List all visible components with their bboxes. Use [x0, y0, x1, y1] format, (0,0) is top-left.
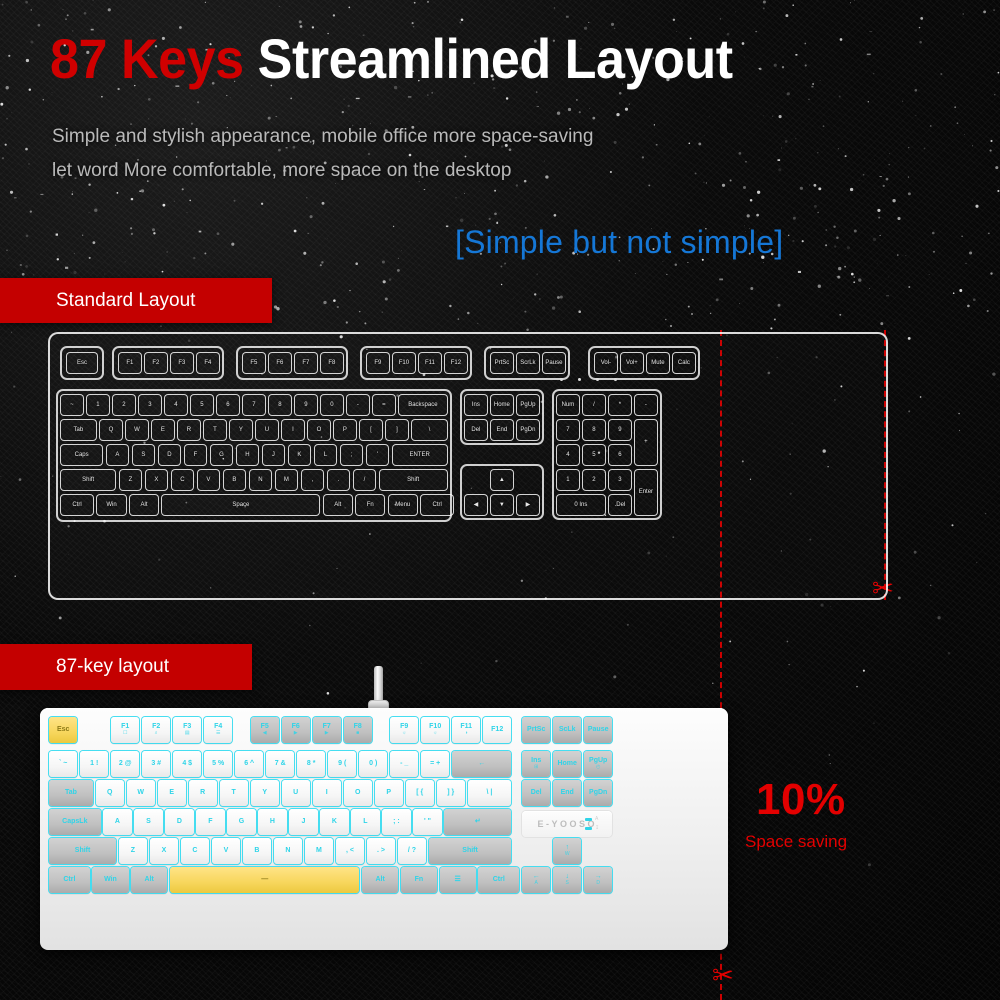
key-b[interactable]: B [223, 469, 247, 491]
key-label: L [363, 818, 367, 826]
key-1[interactable]: 1 [86, 394, 110, 416]
key-label: 5 % [212, 760, 224, 768]
banner-87-label: 87-key layout [56, 656, 169, 678]
key-2[interactable]: 2 @ [111, 751, 139, 777]
key-backspace[interactable]: Backspace [398, 394, 448, 416]
key-label: ` ~ [59, 760, 67, 768]
key-9[interactable]: 9 [294, 394, 318, 416]
key-c[interactable]: C [171, 469, 195, 491]
key-[interactable]: \ | [468, 780, 512, 806]
key-z[interactable]: Z [119, 838, 147, 864]
key-[interactable]: ☰ [440, 867, 476, 893]
key-label: I [326, 789, 328, 797]
key-label: A [115, 818, 120, 826]
key-e[interactable]: E [158, 780, 186, 806]
key-label: Home [557, 760, 576, 768]
key-f8[interactable]: F8■ [344, 717, 372, 743]
key-label: Tab [65, 789, 77, 797]
key-label: Esc [57, 726, 69, 734]
key-[interactable]: ↵ [444, 809, 511, 835]
indicator-label: A [595, 816, 598, 822]
key-1[interactable]: 1 [556, 469, 580, 491]
key-label: ↵ [475, 818, 481, 826]
key-u[interactable]: U [282, 780, 310, 806]
key-r[interactable]: R [177, 419, 201, 441]
key-label: E [169, 789, 174, 797]
key-label: Pause [588, 726, 609, 734]
key-f12[interactable]: F12 [444, 352, 468, 374]
key-[interactable]: - _ [390, 751, 418, 777]
key-sublabel: S [566, 881, 569, 887]
key-shift[interactable]: Shift [60, 469, 116, 491]
key-alt[interactable]: Alt [362, 867, 398, 893]
key-[interactable]: ~ [60, 394, 84, 416]
key-[interactable]: ] } [437, 780, 465, 806]
indicator-led [560, 378, 563, 381]
key-scrlk[interactable]: ScrLk [516, 352, 540, 374]
key-pause[interactable]: Pause [584, 717, 612, 743]
key-label: / ? [408, 847, 416, 855]
key-a[interactable]: A [103, 809, 131, 835]
key-n[interactable]: N [249, 469, 273, 491]
key-ctrl[interactable]: Ctrl [49, 867, 90, 893]
key-label: End [561, 789, 574, 797]
key-[interactable]: ▲ [490, 469, 514, 491]
key-7[interactable]: 7 & [266, 751, 294, 777]
key-1[interactable]: 1 ! [80, 751, 108, 777]
key-pgdn[interactable]: PgDn [516, 419, 540, 441]
key-label: M [316, 847, 322, 855]
key-label: ] } [447, 789, 454, 797]
key-j[interactable]: J [262, 444, 286, 466]
key-[interactable]: / ? [398, 838, 426, 864]
banner-standard-layout: Standard Layout [0, 278, 272, 323]
key-ctrl[interactable]: Ctrl [60, 494, 94, 516]
key-label: , < [346, 847, 354, 855]
key-esc[interactable]: Esc [49, 717, 77, 743]
key-capslk[interactable]: CapsLk [49, 809, 101, 835]
key-7[interactable]: 7 [242, 394, 266, 416]
key-o[interactable]: O [307, 419, 331, 441]
key-prtsc[interactable]: PrtSc [490, 352, 514, 374]
key-label: Fn [415, 876, 424, 884]
key-sublabel: ☼ [402, 731, 407, 737]
key-l[interactable]: L [351, 809, 379, 835]
key-[interactable]: \ [411, 419, 448, 441]
key-f3[interactable]: F3 [170, 352, 194, 374]
key-[interactable]: ' [366, 444, 390, 466]
key-[interactable]: ← [452, 751, 511, 777]
key-label: X [162, 847, 167, 855]
key-label: [ { [416, 789, 423, 797]
key-f8[interactable]: F8 [320, 352, 344, 374]
key-pgup[interactable]: PgUp◴ [584, 751, 612, 777]
key-label: Ctrl [63, 876, 75, 884]
key-sublabel: ▶ [325, 731, 329, 737]
key-[interactable]: ; [340, 444, 364, 466]
key-6[interactable]: 6 [608, 444, 632, 466]
key-h[interactable]: H [236, 444, 260, 466]
page-title-main: Streamlined Layout [258, 27, 733, 90]
key-[interactable]: ▶ [516, 494, 540, 516]
key-2[interactable]: 2 [112, 394, 136, 416]
key-label: - _ [400, 760, 408, 768]
key-f2[interactable]: F2 [144, 352, 168, 374]
key-label: N [285, 847, 290, 855]
key-v[interactable]: V [212, 838, 240, 864]
space-saving-caption: Space saving [745, 832, 847, 852]
key-label: 9 ( [338, 760, 346, 768]
key-menu[interactable]: Menu [388, 494, 418, 516]
key-[interactable]: - [346, 394, 370, 416]
key-m[interactable]: M [305, 838, 333, 864]
indicator-led [585, 827, 592, 830]
indicator-label: ↧ [595, 825, 599, 831]
key-x[interactable]: X [150, 838, 178, 864]
key-label: ' " [424, 818, 431, 826]
key-esc[interactable]: Esc [66, 352, 98, 374]
key-s[interactable]: S [134, 809, 162, 835]
key-y[interactable]: Y [229, 419, 253, 441]
key-p[interactable]: P [375, 780, 403, 806]
key-[interactable]: + [634, 419, 658, 466]
key-f3[interactable]: F3▤ [173, 717, 201, 743]
key-f7[interactable]: F7▶ [313, 717, 341, 743]
key-8[interactable]: 8 [268, 394, 292, 416]
key-sublabel: D [596, 881, 600, 887]
key-enter[interactable]: ENTER [392, 444, 448, 466]
key-f4[interactable]: F4☰ [204, 717, 232, 743]
key-f5[interactable]: F5 [242, 352, 266, 374]
key-4[interactable]: 4 $ [173, 751, 201, 777]
key-f[interactable]: F [196, 809, 224, 835]
key-[interactable]: / [582, 394, 606, 416]
key-arrow-down[interactable]: ↓S [553, 867, 581, 893]
key-sublabel: ▤ [185, 731, 190, 737]
key-del[interactable]: Del [464, 419, 488, 441]
key-pause[interactable]: Pause [542, 352, 566, 374]
key-[interactable]: = + [421, 751, 449, 777]
key-label: Y [262, 789, 267, 797]
key-label: B [254, 847, 259, 855]
key-i[interactable]: I [313, 780, 341, 806]
key-label: — [261, 876, 268, 884]
key-pgup[interactable]: PgUp [516, 394, 540, 416]
key-label: PgDn [589, 789, 607, 797]
key-arrow-up[interactable]: ↑W [553, 838, 581, 864]
key-v[interactable]: V [197, 469, 221, 491]
key-label: . > [377, 847, 385, 855]
key-[interactable]: [ [359, 419, 383, 441]
key-u[interactable]: U [255, 419, 279, 441]
key-p[interactable]: P [333, 419, 357, 441]
key-f11[interactable]: F11◑ [452, 717, 480, 743]
page-title-accent: 87 Keys [50, 27, 244, 90]
key-label: ☰ [455, 876, 461, 884]
key-8[interactable]: 8 * [297, 751, 325, 777]
key-0[interactable]: 0 ) [359, 751, 387, 777]
key-0[interactable]: 0 [320, 394, 344, 416]
key-label: F12 [491, 726, 503, 734]
key-f9[interactable]: F9☼ [390, 717, 418, 743]
key-w[interactable]: W [127, 780, 155, 806]
key-label: Shift [75, 847, 91, 855]
key-f1[interactable]: F1 [118, 352, 142, 374]
key-f7[interactable]: F7 [294, 352, 318, 374]
key-label: F [208, 818, 212, 826]
key-label: Q [107, 789, 112, 797]
key-label: Alt [375, 876, 384, 884]
key-f10[interactable]: F10☼ [421, 717, 449, 743]
key-f1[interactable]: F1☐ [111, 717, 139, 743]
key-[interactable]: - [634, 394, 658, 416]
key-label: 8 * [307, 760, 316, 768]
key-label: Del [531, 789, 542, 797]
key-8[interactable]: 8 [582, 419, 606, 441]
key-q[interactable]: Q [96, 780, 124, 806]
key-sublabel: ◴ [596, 765, 600, 771]
key-f5[interactable]: F5◀ [251, 717, 279, 743]
key-f11[interactable]: F11 [418, 352, 442, 374]
key-f[interactable]: F [184, 444, 208, 466]
key-pgdn[interactable]: PgDn [584, 780, 612, 806]
key-m[interactable]: M [275, 469, 299, 491]
key-2[interactable]: 2 [582, 469, 606, 491]
key-7[interactable]: 7 [556, 419, 580, 441]
key-home[interactable]: Home [490, 394, 514, 416]
indicator-led [596, 378, 599, 381]
key-fn[interactable]: Fn [355, 494, 385, 516]
key-5[interactable]: 5 % [204, 751, 232, 777]
key-f9[interactable]: F9 [366, 352, 390, 374]
key-sclk[interactable]: ScLk [553, 717, 581, 743]
key-label: Alt [145, 876, 154, 884]
key-label: 7 & [275, 760, 286, 768]
key-5[interactable]: 5 [582, 444, 606, 466]
key-o[interactable]: O [344, 780, 372, 806]
key-[interactable]: = [372, 394, 396, 416]
key-t[interactable]: T [220, 780, 248, 806]
key-[interactable]: ] [385, 419, 409, 441]
key-vol[interactable]: Vol- [594, 352, 618, 374]
brand-logo: E-YOOSO [522, 811, 612, 837]
key-label: ← [478, 760, 485, 768]
key-label: 6 ^ [244, 760, 254, 768]
key-[interactable]: . > [367, 838, 395, 864]
key-3[interactable]: 3 [138, 394, 162, 416]
key-tab[interactable]: Tab [60, 419, 97, 441]
key-label: G [239, 818, 244, 826]
key-6[interactable]: 6 ^ [235, 751, 263, 777]
key-sublabel: ☐ [123, 731, 127, 737]
indicator-led [585, 818, 592, 821]
key-c[interactable]: C [181, 838, 209, 864]
key-alt[interactable]: Alt [323, 494, 353, 516]
key-ctrl[interactable]: Ctrl [478, 867, 519, 893]
key-6[interactable]: 6 [216, 394, 240, 416]
key-arrow-left[interactable]: ←A [522, 867, 550, 893]
key-caps[interactable]: Caps [60, 444, 103, 466]
key-label: 2 @ [119, 760, 132, 768]
key-[interactable]: , < [336, 838, 364, 864]
subtitle-line-1: Simple and stylish appearance, mobile of… [52, 120, 593, 154]
key-[interactable]: ▼ [490, 494, 514, 516]
key-label: P [386, 789, 391, 797]
key-arrow-right[interactable]: →D [584, 867, 612, 893]
key-label: V [224, 847, 229, 855]
key-calc[interactable]: Calc [672, 352, 696, 374]
key-[interactable]: ' " [413, 809, 441, 835]
key-shift[interactable]: Shift [429, 838, 512, 864]
page-subtitle: Simple and stylish appearance, mobile of… [52, 120, 593, 188]
key-sublabel: ☼ [433, 731, 438, 737]
key-[interactable]: * [608, 394, 632, 416]
key-l[interactable]: L [314, 444, 338, 466]
tkl-keyboard: E-YOOSO EscF1☐F2⌕F3▤F4☰F5◀F6▶F7▶F8■F9☼F1… [40, 708, 728, 950]
key-i[interactable]: I [281, 419, 305, 441]
key-label: J [301, 818, 305, 826]
key-del[interactable]: Del [522, 780, 550, 806]
key-ins[interactable]: Ins [464, 394, 488, 416]
key-tab[interactable]: Tab [49, 780, 93, 806]
key-4[interactable]: 4 [556, 444, 580, 466]
tagline: [Simple but not simple] [455, 224, 783, 261]
key-sublabel: A [535, 881, 538, 887]
standard-keyboard-outline: EscF1F2F3F4F5F6F7F8F9F10F11F12PrtScScrLk… [48, 332, 888, 600]
key-d[interactable]: D [158, 444, 182, 466]
key-d[interactable]: D [165, 809, 193, 835]
key-f6[interactable]: F6▶ [282, 717, 310, 743]
key-label: W [137, 789, 144, 797]
key-[interactable]: — [170, 867, 360, 893]
key-home[interactable]: Home [553, 751, 581, 777]
key-alt[interactable]: Alt [131, 867, 167, 893]
banner-87-key-layout: 87-key layout [0, 644, 252, 690]
key-[interactable]: ` ~ [49, 751, 77, 777]
key-r[interactable]: R [189, 780, 217, 806]
key-enter[interactable]: Enter [634, 469, 658, 516]
key-win[interactable]: Win [96, 494, 126, 516]
key-[interactable]: [ { [406, 780, 434, 806]
key-5[interactable]: 5 [190, 394, 214, 416]
key-end[interactable]: End [553, 780, 581, 806]
key-label: S [146, 818, 151, 826]
key-w[interactable]: W [125, 419, 149, 441]
key-[interactable]: ; : [382, 809, 410, 835]
key-k[interactable]: K [288, 444, 312, 466]
key-sublabel: ◀ [263, 731, 267, 737]
key-label: 1 ! [90, 760, 98, 768]
key-end[interactable]: End [490, 419, 514, 441]
key-3[interactable]: 3 [608, 469, 632, 491]
key-ctrl[interactable]: Ctrl [420, 494, 454, 516]
key-e[interactable]: E [151, 419, 175, 441]
key-f4[interactable]: F4 [196, 352, 220, 374]
key-label: ; : [393, 818, 400, 826]
key-label: \ | [487, 789, 493, 797]
key-prtsc[interactable]: PrtSc [522, 717, 550, 743]
scissors-icon: ✂ [712, 962, 734, 988]
key-label: CapsLk [62, 818, 87, 826]
key-z[interactable]: Z [119, 469, 143, 491]
key-label: K [332, 818, 337, 826]
key-f2[interactable]: F2⌕ [142, 717, 170, 743]
indicator-led [614, 378, 617, 381]
key-label: 0 ) [369, 760, 377, 768]
key-mute[interactable]: Mute [646, 352, 670, 374]
key-sublabel: W [565, 852, 570, 858]
key-label: 4 $ [182, 760, 192, 768]
key-[interactable]: , [301, 469, 325, 491]
key-t[interactable]: T [203, 419, 227, 441]
key-y[interactable]: Y [251, 780, 279, 806]
key-label: 3 # [151, 760, 161, 768]
key-label: Win [104, 876, 117, 884]
key-sublabel: ⊞ [534, 765, 538, 771]
key-g[interactable]: G [227, 809, 255, 835]
key-label: T [232, 789, 236, 797]
key-n[interactable]: N [274, 838, 302, 864]
key-label: = + [430, 760, 440, 768]
key-h[interactable]: H [258, 809, 286, 835]
key-sublabel: ■ [356, 731, 359, 737]
key-f12[interactable]: F12 [483, 717, 511, 743]
key-label: O [355, 789, 360, 797]
key-9[interactable]: 9 [608, 419, 632, 441]
key-num[interactable]: Num [556, 394, 580, 416]
key-[interactable]: . [327, 469, 351, 491]
key-k[interactable]: K [320, 809, 348, 835]
banner-standard-label: Standard Layout [56, 290, 195, 312]
key-j[interactable]: J [289, 809, 317, 835]
key-sublabel: ⌕ [155, 731, 158, 737]
key-0-ins[interactable]: 0 Ins [556, 494, 606, 516]
page-title: 87 Keys Streamlined Layout [50, 26, 733, 91]
key-s[interactable]: S [132, 444, 156, 466]
key-del[interactable]: .Del [608, 494, 632, 516]
key-3[interactable]: 3 # [142, 751, 170, 777]
key-label: PrtSc [527, 726, 545, 734]
key-label: Ctrl [493, 876, 505, 884]
key-[interactable]: ◀ [464, 494, 488, 516]
key-label: D [177, 818, 182, 826]
key-f10[interactable]: F10 [392, 352, 416, 374]
key-space[interactable]: Space [161, 494, 320, 516]
key-fn[interactable]: Fn [401, 867, 437, 893]
key-shift[interactable]: Shift [379, 469, 448, 491]
indicator-led [578, 378, 581, 381]
key-b[interactable]: B [243, 838, 271, 864]
key-q[interactable]: Q [99, 419, 123, 441]
key-x[interactable]: X [145, 469, 169, 491]
subtitle-line-2: let word More comfortable, more space on… [52, 154, 593, 188]
key-shift[interactable]: Shift [49, 838, 116, 864]
key-9[interactable]: 9 ( [328, 751, 356, 777]
key-ins[interactable]: Ins⊞ [522, 751, 550, 777]
key-vol[interactable]: Vol+ [620, 352, 644, 374]
key-sublabel: ☰ [216, 731, 220, 737]
space-saving-percent: 10% [756, 775, 846, 825]
key-g[interactable]: G [210, 444, 234, 466]
key-win[interactable]: Win [92, 867, 128, 893]
key-[interactable]: / [353, 469, 377, 491]
key-label: H [270, 818, 275, 826]
key-4[interactable]: 4 [164, 394, 188, 416]
key-a[interactable]: A [106, 444, 130, 466]
key-f6[interactable]: F6 [268, 352, 292, 374]
key-alt[interactable]: Alt [129, 494, 159, 516]
key-label: C [192, 847, 197, 855]
